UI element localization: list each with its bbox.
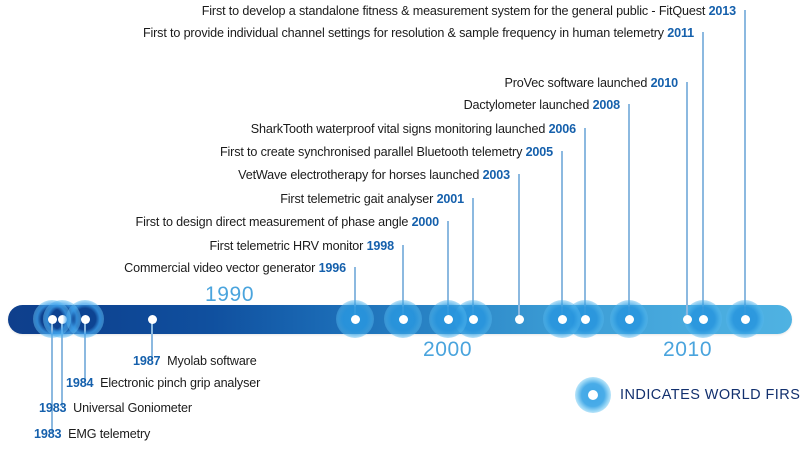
event-label-1984-1: 1984 Electronic pinch grip analyser [66,376,260,390]
event-text: Electronic pinch grip analyser [100,376,260,390]
event-text: First to create synchronised parallel Bl… [220,145,522,159]
event-year: 1984 [66,376,93,390]
event-year: 2011 [667,26,694,40]
timeline-dot[interactable] [558,315,567,324]
decade-label-2010: 2010 [663,338,712,362]
event-text: Commercial video vector generator [124,261,315,275]
connector-line [686,82,687,319]
event-year: 2010 [651,76,678,90]
event-year: 1996 [319,261,346,275]
event-label-2001: First telemetric gait analyser 2001 [280,192,464,206]
event-year: 1983 [39,401,66,415]
event-text: VetWave electrotherapy for horses launch… [238,168,479,182]
event-text: First telemetric HRV monitor [209,239,363,253]
event-label-2003: VetWave electrotherapy for horses launch… [238,168,510,182]
event-text: ProVec software launched [505,76,648,90]
connector-line [584,128,585,319]
connector-line [518,174,519,319]
event-year: 2003 [483,168,510,182]
event-year: 2005 [526,145,553,159]
event-year: 2001 [437,192,464,206]
event-text: Myolab software [167,354,256,368]
timeline-dot[interactable] [148,315,157,324]
event-label-2005: First to create synchronised parallel Bl… [220,145,553,159]
event-label-2006: SharkTooth waterproof vital signs monito… [251,122,576,136]
timeline-dot[interactable] [683,315,692,324]
event-text: First telemetric gait analyser [280,192,433,206]
timeline-dot[interactable] [515,315,524,324]
timeline-dot[interactable] [581,315,590,324]
legend-label: INDICATES WORLD FIRSTS [620,387,800,403]
timeline-dot[interactable] [444,315,453,324]
connector-line [561,151,562,319]
event-year: 1987 [133,354,160,368]
event-label-1983-3: 1983 EMG telemetry [34,427,150,441]
event-label-2008: Dactylometer launched 2008 [464,98,620,112]
timeline-dot[interactable] [741,315,750,324]
event-text: First to develop a standalone fitness & … [202,4,706,18]
decade-label-2000: 2000 [423,338,472,362]
timeline-dot[interactable] [399,315,408,324]
decade-label-1990: 1990 [205,283,254,307]
event-label-1987-0: 1987 Myolab software [133,354,257,368]
timeline-dot[interactable] [469,315,478,324]
event-label-1998: First telemetric HRV monitor 1998 [209,239,394,253]
timeline-dot[interactable] [625,315,634,324]
connector-line [702,32,703,319]
event-year: 2006 [549,122,576,136]
event-label-2013: First to develop a standalone fitness & … [202,4,736,18]
event-year: 1983 [34,427,61,441]
timeline-dot[interactable] [81,315,90,324]
event-label-2011: First to provide individual channel sett… [143,26,694,40]
event-text: First to design direct measurement of ph… [136,215,409,229]
event-year: 2000 [412,215,439,229]
event-text: Dactylometer launched [464,98,590,112]
timeline-dot[interactable] [48,315,57,324]
event-label-1983-2: 1983 Universal Goniometer [39,401,192,415]
event-text: First to provide individual channel sett… [143,26,664,40]
timeline-dot[interactable] [699,315,708,324]
event-year: 1998 [367,239,394,253]
event-label-1996: Commercial video vector generator 1996 [124,261,346,275]
event-year: 2008 [593,98,620,112]
legend: INDICATES WORLD FIRSTS [575,381,800,409]
event-text: Universal Goniometer [73,401,192,415]
event-label-2010: ProVec software launched 2010 [505,76,679,90]
event-year: 2013 [709,4,736,18]
connector-line [744,10,745,319]
event-text: EMG telemetry [68,427,150,441]
world-first-dot-icon [575,377,611,413]
event-text: SharkTooth waterproof vital signs monito… [251,122,545,136]
timeline-infographic: 199020002010 First to develop a standalo… [0,0,800,467]
event-label-2000: First to design direct measurement of ph… [136,215,439,229]
timeline-dot[interactable] [351,315,360,324]
connector-line [628,104,629,319]
